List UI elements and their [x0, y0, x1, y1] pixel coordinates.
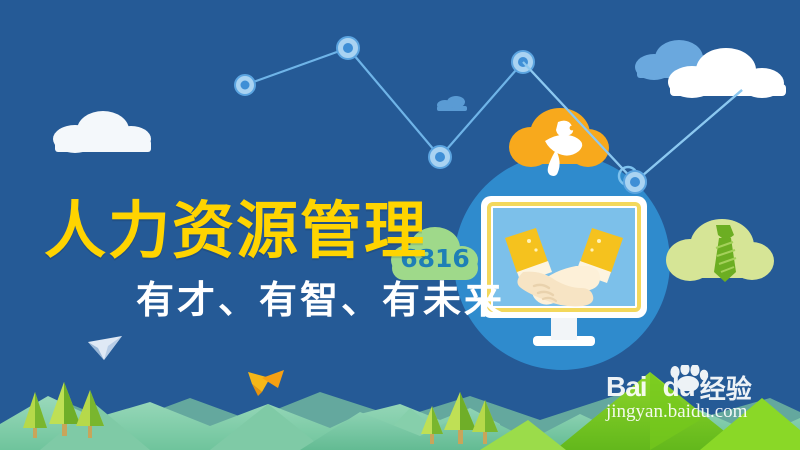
watermark-brand-left: Bai	[606, 371, 647, 403]
page-subtitle: 有才、有智、有未来	[136, 278, 464, 322]
page-title: 人力资源管理	[44, 196, 464, 266]
banner-canvas: 6816 人力资源管理 有才、有智、有未来 Bai du 经验 jingyan.…	[0, 0, 800, 450]
headline-block: 人力资源管理 有才、有智、有未来	[44, 196, 464, 322]
orange-cloud-person-icon	[509, 108, 609, 176]
paw-icon	[666, 365, 710, 391]
monitor-handshake	[481, 196, 647, 346]
baidu-watermark: Bai du 经验 jingyan.baidu.com	[606, 372, 796, 423]
green-cloud-necktie-icon	[666, 219, 774, 282]
